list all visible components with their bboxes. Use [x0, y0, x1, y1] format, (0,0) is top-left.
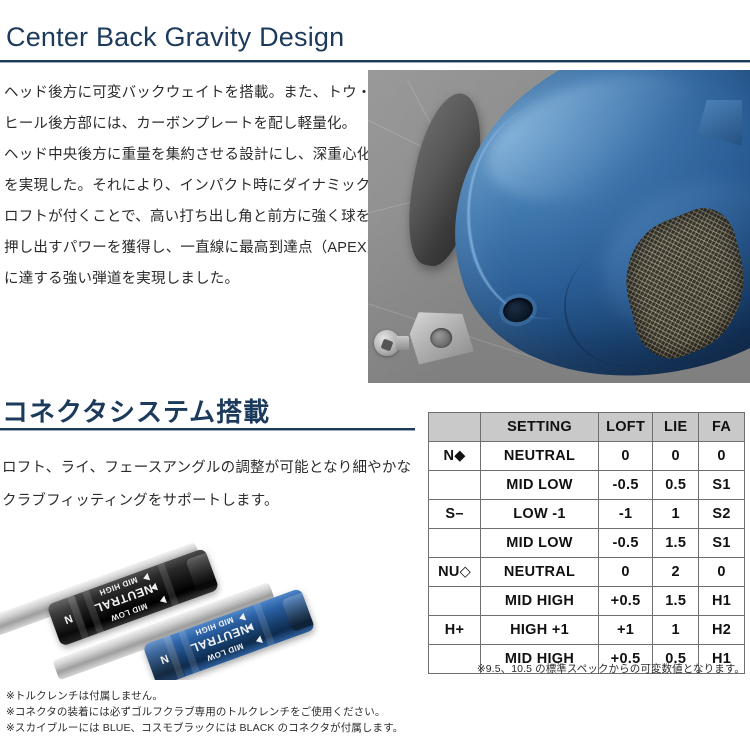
cell-loft: -0.5: [598, 471, 652, 500]
triangle-marker-icon: [150, 583, 158, 593]
cell-fa: S2: [699, 500, 745, 529]
cell-code: N◆: [429, 442, 481, 471]
cell-setting: NEUTRAL: [481, 558, 599, 587]
table-row: S– LOW -1 -1 1 S2: [429, 500, 745, 529]
cell-loft: 0: [598, 442, 652, 471]
section-body-connector-system: ロフト、ライ、フェースアングルの調整が可能となり細やかな クラブフィッティングを…: [2, 452, 412, 518]
cell-setting: MID HIGH: [481, 587, 599, 616]
body-line: に達する強い弾道を実現しました。: [4, 264, 360, 295]
cell-code: H+: [429, 616, 481, 645]
table-row: H+ HIGH +1 +1 1 H2: [429, 616, 745, 645]
table-body: N◆ NEUTRAL 0 0 0 MID LOW -0.5 0.5 S1 S– …: [429, 442, 745, 674]
cell-code: [429, 529, 481, 558]
section-divider-rule-1: [0, 60, 750, 62]
cell-loft: +0.5: [598, 587, 652, 616]
connector-tip: [281, 591, 315, 633]
section-heading-center-back-gravity-design: Center Back Gravity Design: [6, 22, 344, 53]
cell-setting: HIGH +1: [481, 616, 599, 645]
cell-lie: 1: [653, 500, 699, 529]
table-row: MID HIGH +0.5 1.5 H1: [429, 587, 745, 616]
footnote-item: ※コネクタの装着には必ずゴルフクラブ専用のトルクレンチをご使用ください。: [6, 704, 403, 720]
loft-lie-fa-spec-table: SETTING LOFT LIE FA N◆ NEUTRAL 0 0 0 MID…: [428, 412, 745, 674]
cell-lie: 1.5: [653, 587, 699, 616]
section-heading-connector-system: コネクタシステム搭載: [2, 392, 270, 429]
section-body-center-back-gravity-design: ヘッド後方に可変バックウェイトを搭載。また、トウ・ ヒール後方部には、カーボンプ…: [4, 78, 360, 295]
table-row: MID LOW -0.5 0.5 S1: [429, 471, 745, 500]
body-line: ロフト、ライ、フェースアングルの調整が可能となり細やかな: [2, 452, 412, 485]
cell-code: NU◇: [429, 558, 481, 587]
cell-fa: S1: [699, 529, 745, 558]
cell-setting: MID LOW: [481, 529, 599, 558]
body-line: ヘッド後方に可変バックウェイトを搭載。また、トウ・: [4, 78, 360, 109]
table-row: NU◇ NEUTRAL 0 2 0: [429, 558, 745, 587]
cell-code: [429, 587, 481, 616]
body-line: ヒール後方部には、カーボンプレートを配し軽量化。: [4, 109, 360, 140]
cell-fa: H2: [699, 616, 745, 645]
spec-table-note: ※9.5、10.5 の標準スペックからの可変数値となります。: [428, 661, 745, 676]
footnote-item: ※スカイブルーには BLUE、コスモブラックには BLACK のコネクタが付属し…: [6, 720, 403, 736]
table-row: MID LOW -0.5 1.5 S1: [429, 529, 745, 558]
product-info-page: Center Back Gravity Design ヘッド後方に可変バックウェ…: [0, 0, 750, 750]
cell-lie: 1: [653, 616, 699, 645]
table-row: N◆ NEUTRAL 0 0 0: [429, 442, 745, 471]
cell-setting: LOW -1: [481, 500, 599, 529]
body-line: 押し出すパワーを獲得し、一直線に最高到達点（APEX）: [4, 233, 360, 264]
triangle-marker-icon: [159, 595, 167, 605]
weight-screw-part: [374, 328, 408, 358]
connector-tip: [185, 551, 219, 593]
triangle-marker-icon: [246, 623, 254, 633]
cell-code: S–: [429, 500, 481, 529]
cell-lie: 2: [653, 558, 699, 587]
section-divider-rule-2: [0, 428, 415, 430]
cell-fa: 0: [699, 442, 745, 471]
footnote-item: ※トルクレンチは付属しません。: [6, 688, 403, 704]
cell-loft: -0.5: [598, 529, 652, 558]
cell-fa: 0: [699, 558, 745, 587]
cell-loft: 0: [598, 558, 652, 587]
cell-lie: 0: [653, 442, 699, 471]
body-line: を実現した。それにより、インパクト時にダイナミック: [4, 171, 360, 202]
column-header-setting: SETTING: [481, 413, 599, 442]
weight-screw-hole: [429, 327, 453, 349]
column-header-loft: LOFT: [598, 413, 652, 442]
column-header-code: [429, 413, 481, 442]
cell-fa: S1: [699, 471, 745, 500]
screw-shaft: [396, 336, 409, 350]
torx-socket: [381, 339, 394, 352]
cell-fa: H1: [699, 587, 745, 616]
connector-photo-image: N MID HIGH NEUTRAL MID LOW N MID HIGH NE…: [0, 512, 418, 680]
cell-loft: -1: [598, 500, 652, 529]
cell-setting: NEUTRAL: [481, 442, 599, 471]
driver-head-render-image: [368, 70, 750, 383]
cell-loft: +1: [598, 616, 652, 645]
cell-lie: 0.5: [653, 471, 699, 500]
body-line: ロフトが付くことで、高い打ち出し角と前方に強く球を: [4, 202, 360, 233]
cell-code: [429, 471, 481, 500]
column-header-fa: FA: [699, 413, 745, 442]
column-header-lie: LIE: [653, 413, 699, 442]
cell-setting: MID LOW: [481, 471, 599, 500]
body-line: ヘッド中央後方に重量を集約させる設計にし、深重心化: [4, 140, 360, 171]
triangle-marker-icon: [255, 635, 263, 645]
adjustable-back-weight-part: [407, 307, 474, 365]
footnotes-block: ※トルクレンチは付属しません。 ※コネクタの装着には必ずゴルフクラブ専用のトルク…: [6, 688, 403, 736]
cell-lie: 1.5: [653, 529, 699, 558]
table-header-row: SETTING LOFT LIE FA: [429, 413, 745, 442]
